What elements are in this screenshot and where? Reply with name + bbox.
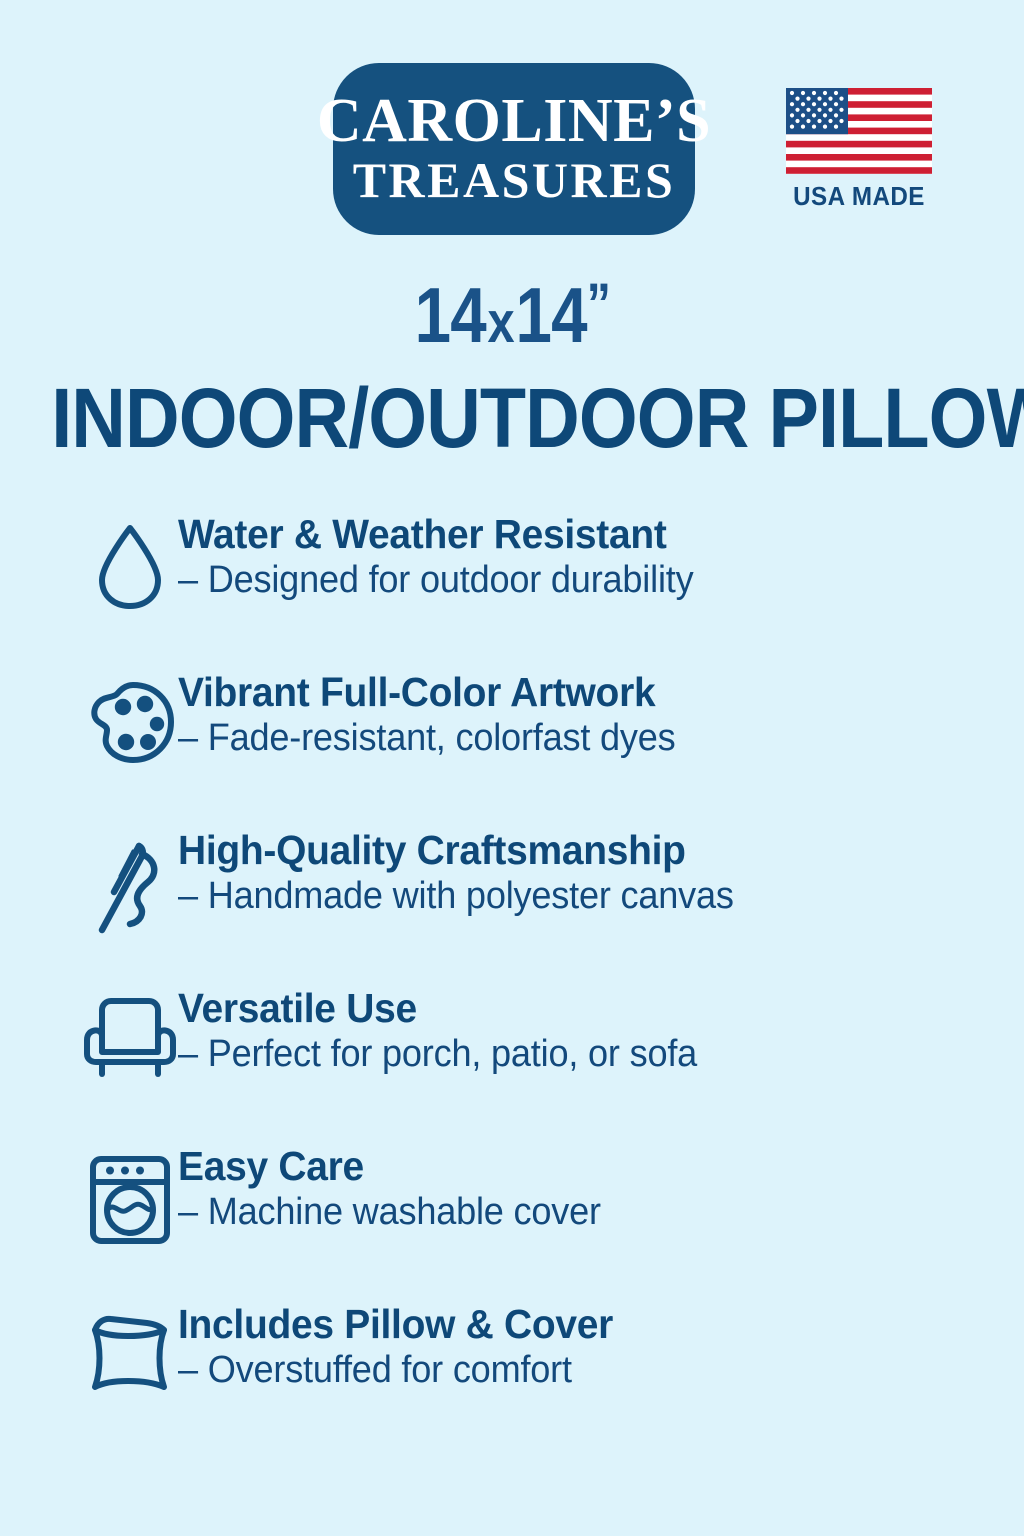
product-size-title: 14x14” [82, 276, 942, 354]
feature-text-block: Includes Pillow & Cover – Overstuffed fo… [178, 1298, 636, 1393]
feature-subtitle: – Fade-resistant, colorfast dyes [178, 716, 676, 761]
feature-text-block: High-Quality Craftsmanship – Handmade wi… [178, 824, 763, 919]
washing-machine-icon [82, 1140, 178, 1246]
feature-text-block: Water & Weather Resistant – Designed for… [178, 508, 721, 603]
feature-subtitle: – Handmade with polyester canvas [178, 874, 734, 919]
feature-subtitle: – Machine washable cover [178, 1190, 601, 1235]
feature-title: Water & Weather Resistant [178, 512, 693, 556]
feature-title: Versatile Use [178, 986, 697, 1030]
feature-text-block: Versatile Use – Perfect for porch, patio… [178, 982, 724, 1077]
feature-item-versatile-use: Versatile Use – Perfect for porch, patio… [82, 982, 1024, 1140]
usa-made-badge: USA MADE [786, 88, 932, 212]
feature-subtitle: – Perfect for porch, patio, or sofa [178, 1032, 697, 1077]
feature-title: Includes Pillow & Cover [178, 1302, 613, 1346]
water-droplet-icon [82, 508, 178, 612]
feature-title: Easy Care [178, 1144, 601, 1188]
size-number-first: 14 [415, 271, 486, 359]
header: CAROLINE’S TREASURES [0, 0, 1024, 240]
feature-subtitle: – Overstuffed for comfort [178, 1348, 613, 1393]
pillow-icon [82, 1298, 178, 1396]
feature-text-block: Vibrant Full-Color Artwork – Fade-resist… [178, 666, 702, 761]
feature-item-craftsmanship: High-Quality Craftsmanship – Handmade wi… [82, 824, 1024, 982]
feature-item-easy-care: Easy Care – Machine washable cover [82, 1140, 1024, 1298]
feature-title: Vibrant Full-Color Artwork [178, 670, 676, 714]
feature-item-includes-pillow: Includes Pillow & Cover – Overstuffed fo… [82, 1298, 1024, 1456]
armchair-icon [82, 982, 178, 1080]
size-separator-x: x [486, 290, 516, 355]
feature-list: Water & Weather Resistant – Designed for… [0, 508, 1024, 1456]
size-number-second: 14 [515, 271, 586, 359]
brand-name-line2: TREASURES [353, 154, 676, 207]
inch-mark: ” [587, 272, 610, 337]
usa-flag-icon [786, 88, 932, 174]
brand-name-line1: CAROLINE’S [317, 91, 711, 152]
feature-text-block: Easy Care – Machine washable cover [178, 1140, 623, 1235]
feature-item-water-resistant: Water & Weather Resistant – Designed for… [82, 508, 1024, 666]
page-title: INDOOR/OUTDOOR PILLOW [51, 376, 973, 460]
feature-item-vibrant-artwork: Vibrant Full-Color Artwork – Fade-resist… [82, 666, 1024, 824]
paint-palette-icon [82, 666, 178, 768]
feature-title: High-Quality Craftsmanship [178, 828, 734, 872]
brand-logo-badge: CAROLINE’S TREASURES [333, 63, 695, 235]
feature-subtitle: – Designed for outdoor durability [178, 558, 693, 603]
usa-made-label: USA MADE [791, 181, 927, 212]
needle-and-thread-icon [82, 824, 178, 938]
